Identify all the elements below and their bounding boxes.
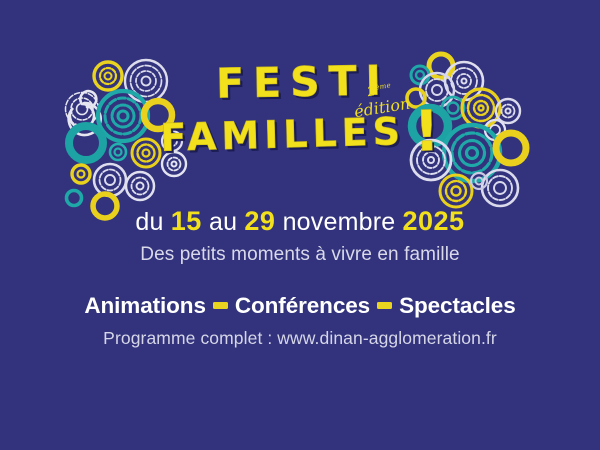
tagline: Des petits moments à vivre en famille <box>0 244 600 266</box>
date-middle: au <box>209 208 237 236</box>
date-line: du 15 au 29 novembre 2025 <box>0 206 600 237</box>
category-separator-dash-icon <box>213 302 228 309</box>
category-list: AnimationsConférencesSpectacles <box>0 293 600 319</box>
date-prefix: du <box>135 208 163 236</box>
date-end-day: 29 <box>244 206 275 236</box>
date-start-day: 15 <box>171 206 202 236</box>
category-animations: Animations <box>84 293 206 318</box>
festival-poster: FESTI FAMILLES! 2ème édition du 15 au 29… <box>0 0 600 450</box>
category-conferences: Conférences <box>235 293 370 318</box>
date-month: novembre <box>283 208 396 236</box>
poster-title: FESTI FAMILLES! <box>0 62 600 160</box>
title-line-familles-row: FAMILLES! <box>0 104 600 168</box>
dates-block: du 15 au 29 novembre 2025 Des petits mom… <box>0 206 600 266</box>
program-url-line[interactable]: Programme complet : www.dinan-agglomerat… <box>0 328 600 349</box>
title-exclamation-mark: ! <box>413 108 440 156</box>
edition-ordinal-suffix: ème <box>375 81 392 91</box>
category-separator-dash-icon <box>377 302 392 309</box>
program-block: AnimationsConférencesSpectacles Programm… <box>0 293 600 349</box>
category-spectacles: Spectacles <box>399 293 516 318</box>
date-year: 2025 <box>403 206 465 236</box>
title-line-festi: FESTI <box>6 56 600 108</box>
